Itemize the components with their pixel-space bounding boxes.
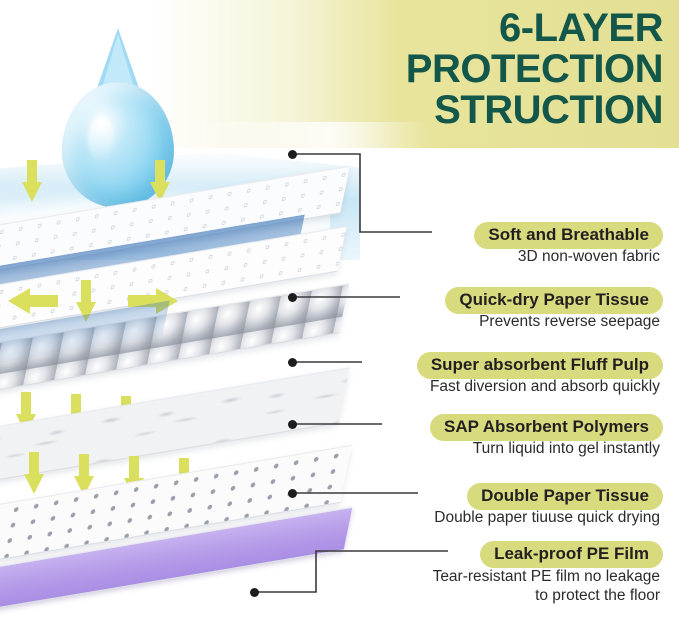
callout-desc-sap-absorbent-polymers: Turn liquid into gel instantly <box>473 440 660 458</box>
callout-desc-soft-and-breathable: 3D non-woven fabric <box>518 248 660 266</box>
callout-title-sap-absorbent-polymers: SAP Absorbent Polymers <box>430 414 663 441</box>
callout-group: Soft and Breathable 3D non-woven fabric … <box>0 0 679 632</box>
callout-desc-super-absorbent-fluff-pulp: Fast diversion and absorb quickly <box>430 378 660 396</box>
anchor-dot-double-tissue <box>288 489 297 498</box>
anchor-dot-pe-film <box>250 588 259 597</box>
infographic-canvas: 6-LAYER PROTECTION STRUCTION <box>0 0 679 632</box>
callout-desc-leak-proof-pe-film: Tear-resistant PE film no leakage <box>433 568 660 586</box>
anchor-dot-sap <box>288 420 297 429</box>
anchor-dot-quick-dry <box>288 293 297 302</box>
callout-desc2-leak-proof-pe-film: to protect the floor <box>535 587 660 605</box>
callout-title-quick-dry-paper-tissue: Quick-dry Paper Tissue <box>445 287 663 314</box>
callout-title-double-paper-tissue: Double Paper Tissue <box>467 483 663 510</box>
callout-desc-quick-dry-paper-tissue: Prevents reverse seepage <box>479 313 660 331</box>
callout-desc-double-paper-tissue: Double paper tiuuse quick drying <box>434 509 660 527</box>
callout-title-soft-and-breathable: Soft and Breathable <box>474 222 663 249</box>
callout-title-leak-proof-pe-film: Leak-proof PE Film <box>480 541 663 568</box>
anchor-dot-soft-breathable <box>288 150 297 159</box>
callout-title-super-absorbent-fluff-pulp: Super absorbent Fluff Pulp <box>417 352 663 379</box>
anchor-dot-fluff-pulp <box>288 358 297 367</box>
